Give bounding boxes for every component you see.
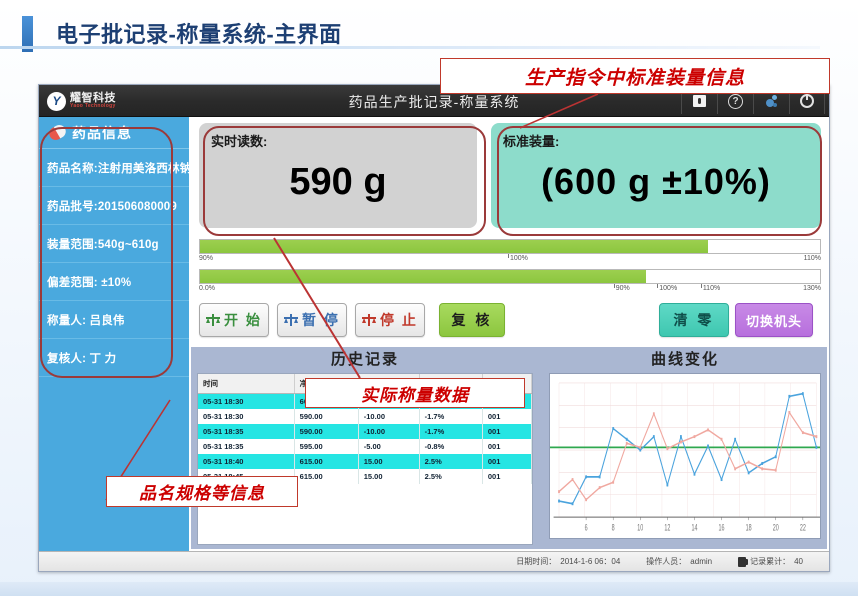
lock-icon: [693, 95, 706, 107]
table-cell: 05-31 18:30: [198, 394, 294, 410]
deviation-bar-ticks: 90%100%110%: [199, 255, 821, 267]
status-datetime: 日期时间： 2014-1-6 06：04: [516, 556, 620, 567]
bar-tick-label: 110%: [804, 255, 821, 262]
table-cell: -10.00: [358, 409, 419, 424]
table-row[interactable]: 05-31 18:30590.00-10.00-1.7%001: [198, 409, 532, 424]
zero-button-label: 清 零: [674, 310, 715, 330]
pause-button-label: 暂 停: [302, 310, 340, 330]
scale-icon: [206, 314, 220, 326]
chart-x-tick-label: 14: [691, 522, 697, 533]
pause-button[interactable]: 暂 停: [277, 303, 347, 337]
history-panel-title: 历史记录: [191, 347, 539, 373]
table-cell: 2.5%: [419, 454, 482, 469]
trend-chart-svg: 6810121416182022: [550, 374, 820, 538]
live-reading-label: 实时读数:: [211, 131, 465, 150]
sidebar-header-label: 药品信息: [72, 123, 132, 143]
sidebar-item-batch-no: 药品批号:201506080009: [39, 187, 189, 225]
bar-tick-label: 100%: [659, 285, 677, 292]
status-operator-value: admin: [690, 557, 712, 566]
table-cell: 001: [482, 454, 531, 469]
progress-bars: 90%100%110% 0.0%90%100%110%130%: [199, 239, 821, 297]
page-title: 电子批记录-称量系统-主界面: [56, 17, 342, 49]
table-cell: 05-31 18:30: [198, 409, 294, 424]
table-cell: 15.00: [358, 454, 419, 469]
table-cell: 590.00: [294, 409, 358, 424]
sidebar-item-deviation-range: 偏差范围: ±10%: [39, 263, 189, 301]
control-button-row: 开 始 暂 停 停 止 复 核 清 零: [199, 303, 821, 341]
status-records: 记录累计： 40: [738, 556, 803, 567]
sidebar-item-reviewer: 复核人: 丁 力: [39, 339, 189, 377]
bar-tick-label: 110%: [703, 285, 720, 292]
table-cell: -0.8%: [419, 439, 482, 454]
chart-x-tick-label: 12: [664, 522, 670, 533]
chart-x-tick-label: 18: [746, 522, 752, 533]
annotation-product-info: 品名规格等信息: [106, 476, 298, 507]
table-row[interactable]: 05-31 18:35590.00-10.00-1.7%001: [198, 424, 532, 439]
table-cell: 001: [482, 469, 531, 484]
zero-button[interactable]: 清 零: [659, 303, 729, 337]
progress-bar-ticks: 0.0%90%100%110%130%: [199, 285, 821, 297]
scale-icon: [284, 314, 298, 326]
start-button[interactable]: 开 始: [199, 303, 269, 337]
bar-tick-label: 90%: [616, 285, 630, 292]
table-cell: 615.00: [294, 454, 358, 469]
chart-panel-title: 曲线变化: [543, 347, 827, 373]
sidebar-item-drug-name: 药品名称:注射用美洛西林钠: [39, 149, 189, 187]
chart-x-tick-label: 16: [719, 522, 725, 533]
status-operator-label: 操作人员：: [646, 556, 686, 567]
switch-head-button[interactable]: 切换机头: [735, 303, 813, 337]
bar-tick-label: 130%: [803, 285, 821, 292]
deviation-bar-fill: [200, 240, 708, 253]
table-cell: -1.7%: [419, 424, 482, 439]
table-cell: 05-31 18:35: [198, 424, 294, 439]
status-records-value: 40: [794, 557, 803, 566]
table-cell: -10.00: [358, 424, 419, 439]
review-button[interactable]: 复 核: [439, 303, 505, 337]
status-datetime-label: 日期时间：: [516, 556, 556, 567]
chart-x-tick-label: 20: [773, 522, 779, 533]
table-cell: 2.5%: [419, 469, 482, 484]
standard-weight-panel: 标准装量: (600 g ±10%): [491, 123, 821, 228]
table-row[interactable]: 05-31 18:40615.0015.002.5%001: [198, 454, 532, 469]
stop-button-label: 停 止: [380, 310, 418, 330]
sidebar-header: 药品信息: [39, 117, 189, 149]
status-bar: 日期时间： 2014-1-6 06：04 操作人员： admin 记录累计： 4…: [39, 551, 829, 571]
pill-icon: [47, 123, 68, 143]
table-cell: 590.00: [294, 424, 358, 439]
table-column-header: 时间: [198, 374, 294, 394]
live-reading-value: 590 g: [211, 154, 465, 210]
sidebar-item-weigher: 称量人: 吕良伟: [39, 301, 189, 339]
review-button-label: 复 核: [452, 310, 493, 330]
table-cell: 615.00: [294, 469, 358, 484]
slide-title-block: 电子批记录-称量系统-主界面: [22, 14, 622, 56]
chart-panel: 曲线变化 6810121416182022: [543, 347, 827, 549]
chart-x-tick-label: 10: [637, 522, 643, 533]
table-cell: 05-31 18:40: [198, 454, 294, 469]
chart-x-tick-label: 8: [612, 522, 615, 533]
standard-weight-value: (600 g ±10%): [503, 154, 809, 210]
deviation-bar: [199, 239, 821, 254]
power-icon: [800, 94, 814, 108]
title-underline: [0, 46, 820, 49]
status-datetime-value: 2014-1-6 06：04: [560, 556, 620, 567]
status-records-label: 记录累计：: [750, 556, 790, 567]
document-icon: [738, 557, 746, 567]
readout-row: 实时读数: 590 g 标准装量: (600 g ±10%): [199, 123, 821, 233]
table-cell: 001: [482, 424, 531, 439]
chart-x-tick-label: 22: [800, 522, 806, 533]
trend-chart[interactable]: 6810121416182022: [549, 373, 821, 539]
sidebar-item-fill-range: 装量范围:540g~610g: [39, 225, 189, 263]
chart-x-tick-label: 6: [585, 522, 588, 533]
bar-tick-label: 0.0%: [199, 285, 215, 292]
slide-canvas: 电子批记录-称量系统-主界面 Y 耀智科技 Yaoo Technology 药品…: [0, 0, 858, 596]
bar-tick-label: 90%: [199, 255, 213, 262]
stop-button[interactable]: 停 止: [355, 303, 425, 337]
settings-icon: [764, 94, 779, 109]
start-button-label: 开 始: [224, 310, 262, 330]
annotation-standard-weight: 生产指令中标准装量信息: [440, 58, 830, 94]
live-reading-panel: 实时读数: 590 g: [199, 123, 477, 228]
progress-bar-fill: [200, 270, 646, 283]
annotation-actual-data: 实际称量数据: [305, 378, 525, 408]
table-cell: 595.00: [294, 439, 358, 454]
progress-bar: [199, 269, 821, 284]
slide-bottom-band: [0, 582, 858, 596]
table-cell: -5.00: [358, 439, 419, 454]
standard-weight-label: 标准装量:: [503, 131, 809, 150]
help-icon: ?: [728, 94, 743, 109]
table-row[interactable]: 05-31 18:35595.00-5.00-0.8%001: [198, 439, 532, 454]
table-cell: 15.00: [358, 469, 419, 484]
status-operator: 操作人员： admin: [646, 556, 712, 567]
scale-icon: [362, 314, 376, 326]
bar-tick-label: 100%: [510, 255, 528, 262]
table-cell: 001: [482, 439, 531, 454]
table-cell: 001: [482, 409, 531, 424]
table-cell: -1.7%: [419, 409, 482, 424]
table-cell: 05-31 18:35: [198, 439, 294, 454]
switch-head-button-label: 切换机头: [746, 311, 802, 330]
